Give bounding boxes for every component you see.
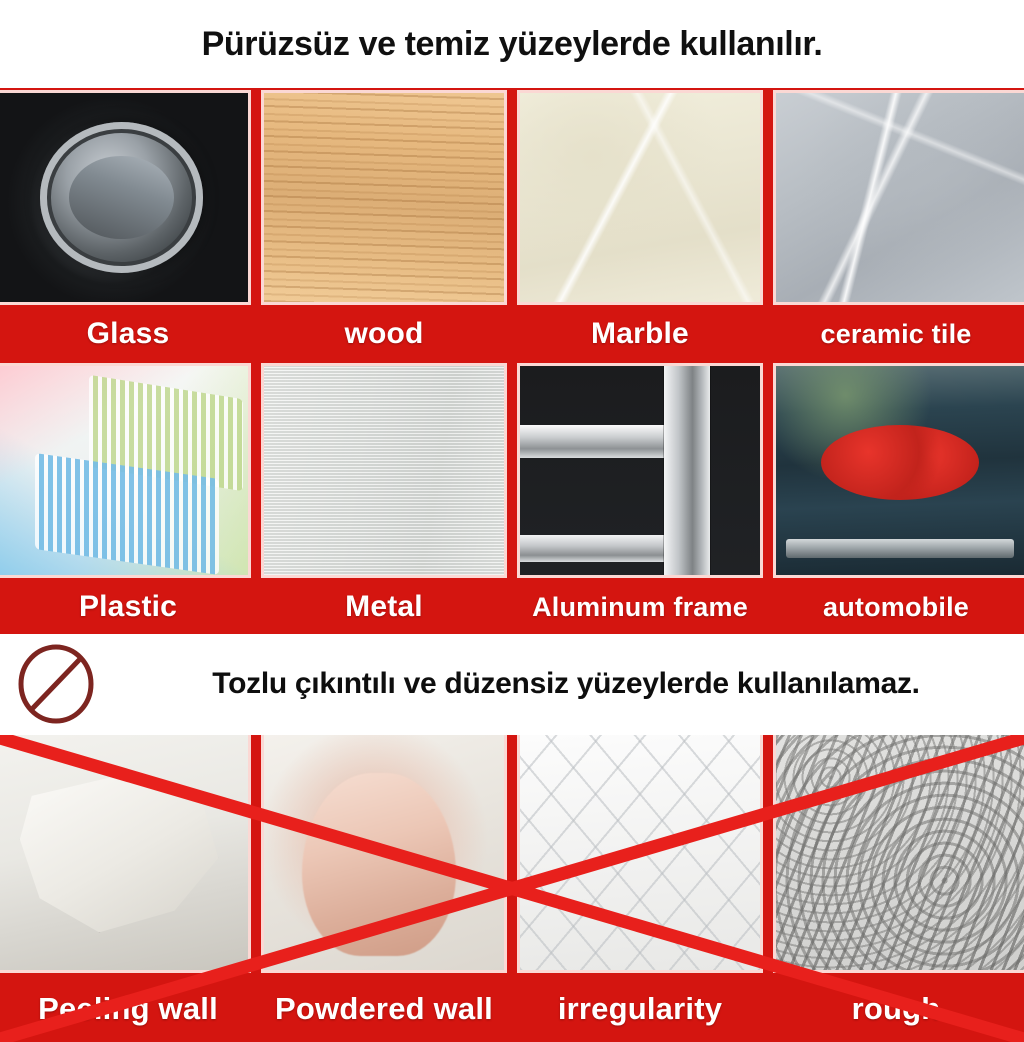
- surface-tile-irregularity: irregularity: [512, 735, 768, 1042]
- car-bumper: [786, 539, 1014, 558]
- surface-label: Powdered wall: [256, 975, 512, 1042]
- surface-thumb: [0, 735, 251, 973]
- surface-label: ceramic tile: [768, 307, 1024, 361]
- peeling-wall-icon: [0, 735, 248, 970]
- surface-label: Glass: [0, 307, 256, 361]
- warning-banner: Tozlu çıkıntılı ve düzensiz yüzeylerde k…: [0, 634, 1024, 735]
- surface-thumb: [773, 735, 1024, 973]
- plastic-surface-icon: [0, 366, 248, 575]
- surface-tile-peeling-wall: Peeling wall: [0, 735, 256, 1042]
- page-title: Pürüzsüz ve temiz yüzeylerde kullanılır.: [202, 25, 823, 64]
- metal-surface-icon: [264, 366, 504, 575]
- forbidden-surfaces-section: Peeling wall Powdered wall irregularity …: [0, 735, 1024, 1042]
- infographic-page: Pürüzsüz ve temiz yüzeylerde kullanılır.…: [0, 0, 1024, 1042]
- surface-label: Metal: [256, 580, 512, 634]
- surface-thumb: [517, 363, 763, 578]
- surface-thumb: [261, 363, 507, 578]
- surface-tile-ceramic-tile: ceramic tile: [768, 88, 1024, 361]
- surface-label: irregularity: [512, 975, 768, 1042]
- surface-label: Aluminum frame: [512, 580, 768, 634]
- marble-surface-icon: [520, 93, 760, 302]
- surface-tile-metal: Metal: [256, 361, 512, 634]
- surface-label: automobile: [768, 580, 1024, 634]
- surface-label: wood: [256, 307, 512, 361]
- surface-tile-aluminum-frame: Aluminum frame: [512, 361, 768, 634]
- surface-tile-automobile: automobile: [768, 361, 1024, 634]
- automobile-surface-icon: [776, 366, 1024, 575]
- surface-tile-glass: Glass: [0, 88, 256, 361]
- allowed-row-2: Plastic Metal Aluminum frame: [0, 361, 1024, 634]
- powdered-wall-icon: [264, 735, 504, 970]
- surface-thumb: [261, 735, 507, 973]
- surface-thumb: [517, 735, 763, 973]
- surface-tile-powdered-wall: Powdered wall: [256, 735, 512, 1042]
- ceramic-tile-surface-icon: [776, 93, 1024, 302]
- surface-thumb: [773, 90, 1024, 305]
- surface-label: Peeling wall: [0, 975, 256, 1042]
- aluminum-frame-surface-icon: [520, 366, 760, 575]
- warning-text: Tozlu çıkıntılı ve düzensiz yüzeylerde k…: [212, 667, 919, 701]
- surface-thumb: [773, 363, 1024, 578]
- surface-thumb: [0, 363, 251, 578]
- wood-surface-icon: [264, 93, 504, 302]
- forbidden-row-1: Peeling wall Powdered wall irregularity …: [0, 735, 1024, 1042]
- allowed-title-bar: Pürüzsüz ve temiz yüzeylerde kullanılır.: [0, 0, 1024, 88]
- surface-thumb: [517, 90, 763, 305]
- surface-label: Plastic: [0, 580, 256, 634]
- surface-tile-wood: wood: [256, 88, 512, 361]
- prohibition-icon: [14, 643, 98, 725]
- allowed-row-1: Glass wood Marble ceramic tile: [0, 88, 1024, 361]
- flower-decoration: [821, 425, 980, 500]
- surface-label: Marble: [512, 307, 768, 361]
- glass-surface-icon: [0, 93, 248, 302]
- rough-surface-icon: [776, 735, 1024, 970]
- surface-tile-rough: rough: [768, 735, 1024, 1042]
- surface-tile-plastic: Plastic: [0, 361, 256, 634]
- surface-thumb: [261, 90, 507, 305]
- allowed-surfaces-section: Glass wood Marble ceramic tile: [0, 88, 1024, 634]
- surface-thumb: [0, 90, 251, 305]
- aluminum-rail: [520, 535, 702, 562]
- surface-tile-marble: Marble: [512, 88, 768, 361]
- irregular-surface-icon: [520, 735, 760, 970]
- surface-label: rough: [768, 975, 1024, 1042]
- warning-text-box: Tozlu çıkıntılı ve düzensiz yüzeylerde k…: [120, 648, 1012, 720]
